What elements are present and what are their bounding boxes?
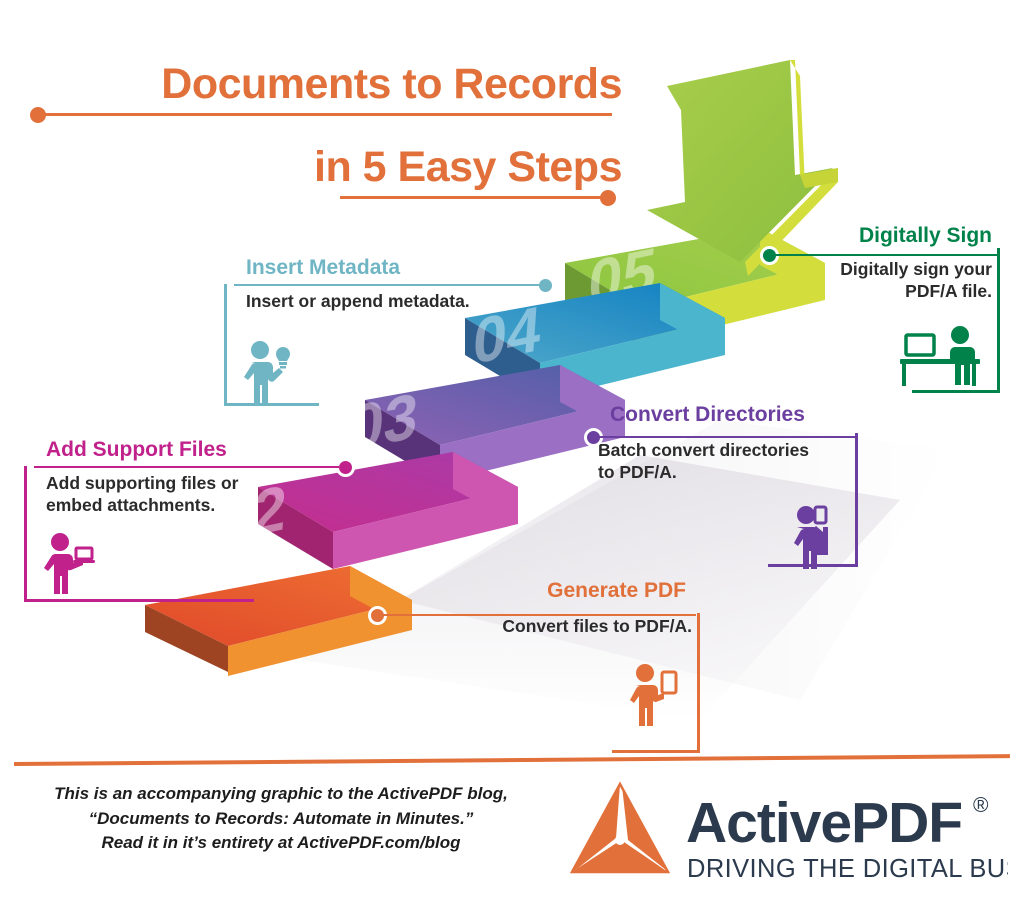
callout-body-add-line1: Add supporting files or bbox=[46, 473, 354, 495]
callout-convert-directories[interactable]: Convert Directories Batch convert direct… bbox=[596, 403, 858, 581]
callout-connector-meta bbox=[234, 284, 539, 286]
svg-text:05: 05 bbox=[586, 235, 658, 321]
person-with-laptop-icon bbox=[40, 531, 100, 599]
callout-bracket-bottom-conv bbox=[768, 564, 858, 567]
footer-divider bbox=[14, 754, 1010, 766]
svg-text:01: 01 bbox=[74, 593, 146, 679]
callout-heading-gen: Generate PDF bbox=[440, 579, 700, 602]
callout-generate-pdf[interactable]: Generate PDF Convert files to PDF/A. bbox=[440, 585, 700, 737]
callout-connector-conv bbox=[599, 436, 855, 438]
activepdf-wordmark: ActivePDF bbox=[686, 791, 962, 855]
callout-body-conv-line2: to PDF/A. bbox=[598, 462, 858, 484]
callout-bracket-bottom-gen bbox=[612, 750, 700, 753]
callout-bracket-meta bbox=[224, 284, 227, 406]
page-title-line-1: Documents to Records bbox=[0, 62, 660, 107]
callout-body-meta-line1: Insert or append metadata. bbox=[246, 291, 554, 313]
callout-bracket-bottom-sign bbox=[912, 390, 1000, 393]
callout-icon-sign bbox=[770, 317, 1000, 392]
callout-icon-meta bbox=[224, 327, 554, 412]
callout-heading-conv: Convert Directories bbox=[596, 403, 858, 426]
callout-bracket-gen bbox=[697, 613, 700, 753]
callout-icon-gen bbox=[440, 652, 700, 737]
activepdf-mark-icon bbox=[572, 784, 668, 872]
footer-line-3-prefix: Read it in it’s entirety at bbox=[102, 833, 298, 852]
callout-icon-add bbox=[24, 531, 354, 604]
callout-icon-conv bbox=[596, 498, 858, 581]
footer-line-3: Read it in it’s entirety at ActivePDF.co… bbox=[26, 831, 536, 856]
callout-digitally-sign[interactable]: Digitally Sign Digitally sign your PDF/A… bbox=[770, 228, 1000, 392]
activepdf-tagline: DRIVING THE DIGITAL BUSINESS bbox=[687, 855, 1008, 883]
footer: This is an accompanying graphic to the A… bbox=[0, 782, 1024, 899]
callout-bracket-bottom-meta bbox=[224, 403, 319, 406]
person-with-tablet-icon bbox=[626, 662, 682, 732]
footer-line-1: This is an accompanying graphic to the A… bbox=[26, 782, 536, 807]
callout-heading-sign: Digitally Sign bbox=[770, 224, 1000, 247]
footer-text: This is an accompanying graphic to the A… bbox=[26, 782, 536, 856]
callout-heading-add: Add Support Files bbox=[24, 438, 354, 461]
person-with-lightbulb-icon bbox=[240, 339, 298, 407]
title-rule-line-2 bbox=[340, 196, 610, 199]
title-block: Documents to Records in 5 Easy Steps bbox=[0, 62, 660, 206]
callout-body-gen-line1: Convert files to PDF/A. bbox=[440, 616, 692, 638]
callout-insert-metadata[interactable]: Insert Metadata Insert or append metadat… bbox=[224, 258, 554, 412]
title-rule-2 bbox=[0, 190, 660, 206]
registered-mark: ® bbox=[973, 794, 989, 817]
callout-connector-gen bbox=[382, 614, 696, 616]
title-rule-dot-right bbox=[600, 190, 616, 206]
page-title-line-2: in 5 Easy Steps bbox=[0, 145, 660, 190]
title-rule-line-1 bbox=[42, 113, 612, 116]
activepdf-logo[interactable]: ActivePDF ® DRIVING THE DIGITAL BUSINESS bbox=[558, 780, 1008, 892]
callout-body-sign-line2: PDF/A file. bbox=[770, 281, 992, 303]
callout-connector-add bbox=[34, 466, 339, 468]
title-rule-1 bbox=[0, 107, 660, 123]
callout-body-add-line2: embed attachments. bbox=[46, 495, 354, 517]
callout-heading-meta: Insert Metadata bbox=[224, 256, 554, 279]
callout-body-sign-line1: Digitally sign your bbox=[770, 259, 992, 281]
callout-bracket-sign bbox=[997, 248, 1000, 393]
callout-bracket-conv bbox=[855, 433, 858, 567]
callout-bracket-add bbox=[24, 466, 27, 602]
footer-line-2: “Documents to Records: Automate in Minut… bbox=[26, 807, 536, 832]
callout-add-support-files[interactable]: Add Support Files Add supporting files o… bbox=[24, 440, 354, 604]
callout-connector-sign bbox=[775, 254, 997, 256]
person-at-desk-icon bbox=[898, 325, 984, 387]
footer-blog-link[interactable]: ActivePDF.com/blog bbox=[297, 833, 460, 852]
callout-bracket-bottom-add bbox=[24, 599, 254, 602]
callout-body-conv-line1: Batch convert directories bbox=[598, 440, 858, 462]
